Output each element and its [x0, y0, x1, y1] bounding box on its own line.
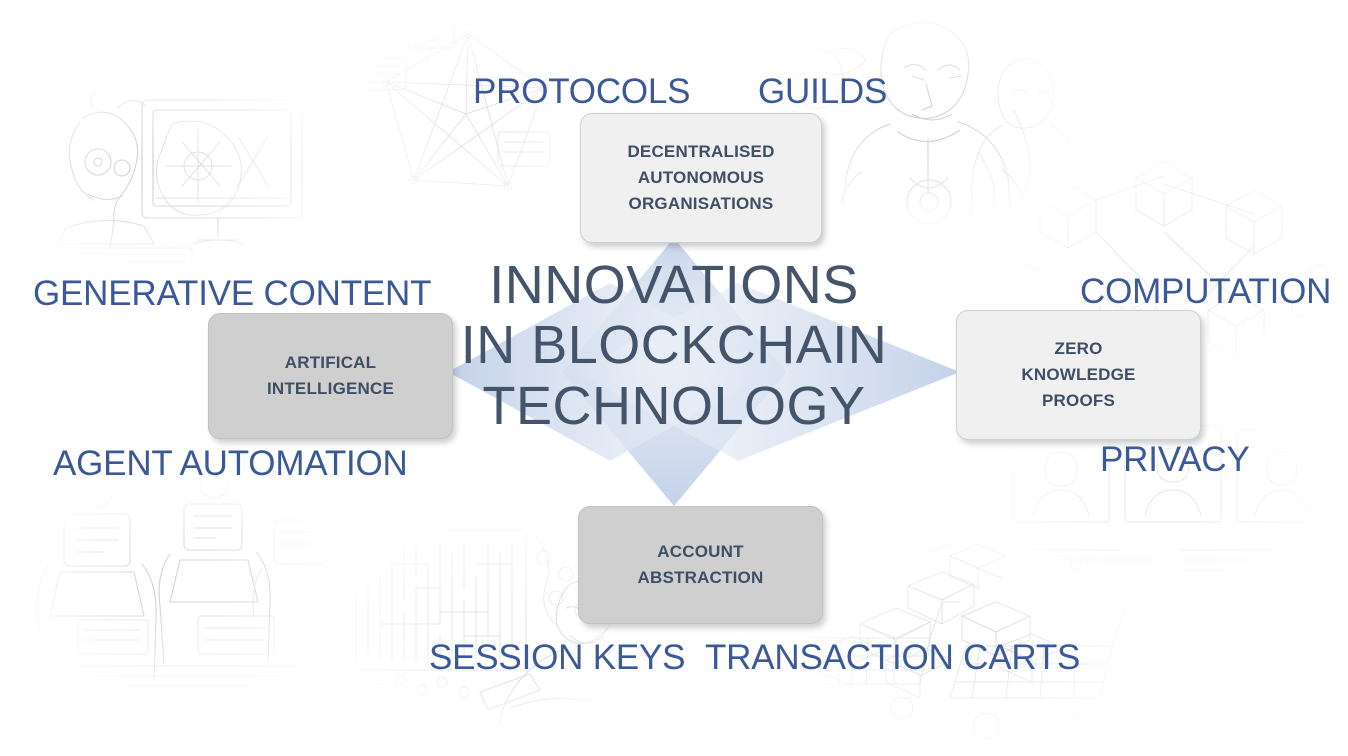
label-session-keys: SESSION KEYS [429, 638, 685, 678]
dao-line-3: ORGANISATIONS [629, 194, 774, 213]
callout-box-ai-label: ARTIFICAL INTELLIGENCE [267, 350, 394, 402]
page-title: INNOVATIONS IN BLOCKCHAIN TECHNOLOGY [454, 255, 894, 436]
callout-box-dao[interactable]: DECENTRALISED AUTONOMOUS ORGANISATIONS [580, 113, 822, 243]
label-protocols: PROTOCOLS [473, 72, 690, 112]
dao-line-1: DECENTRALISED [627, 142, 774, 161]
label-computation: COMPUTATION [1080, 272, 1331, 312]
label-agent-automation: AGENT AUTOMATION [53, 444, 408, 484]
label-generative-content: GENERATIVE CONTENT [33, 274, 431, 314]
callout-box-zkp-label: ZERO KNOWLEDGE PROOFS [1021, 336, 1135, 413]
title-line-1: INNOVATIONS [454, 255, 894, 315]
ai-line-1: ARTIFICAL [285, 353, 377, 372]
title-line-2: IN BLOCKCHAIN [454, 315, 894, 375]
zkp-line-3: PROOFS [1042, 391, 1115, 410]
ai-line-2: INTELLIGENCE [267, 379, 394, 398]
label-privacy: PRIVACY [1100, 440, 1250, 480]
callout-box-dao-label: DECENTRALISED AUTONOMOUS ORGANISATIONS [627, 139, 774, 216]
label-guilds: GUILDS [758, 72, 887, 112]
label-transaction-carts: TRANSACTION CARTS [705, 638, 1080, 678]
callout-box-zkp[interactable]: ZERO KNOWLEDGE PROOFS [956, 310, 1201, 440]
diagram-canvas: INNOVATIONS IN BLOCKCHAIN TECHNOLOGY DEC… [0, 0, 1348, 756]
zkp-line-2: KNOWLEDGE [1021, 365, 1135, 384]
zkp-line-1: ZERO [1054, 339, 1102, 358]
title-line-3: TECHNOLOGY [454, 376, 894, 436]
aa-line-1: ACCOUNT [657, 542, 743, 561]
aa-line-2: ABSTRACTION [638, 568, 764, 587]
callout-box-account-abstraction[interactable]: ACCOUNT ABSTRACTION [578, 506, 823, 624]
callout-box-aa-label: ACCOUNT ABSTRACTION [638, 539, 764, 591]
callout-box-artificial-intelligence[interactable]: ARTIFICAL INTELLIGENCE [208, 313, 453, 439]
dao-line-2: AUTONOMOUS [638, 168, 764, 187]
